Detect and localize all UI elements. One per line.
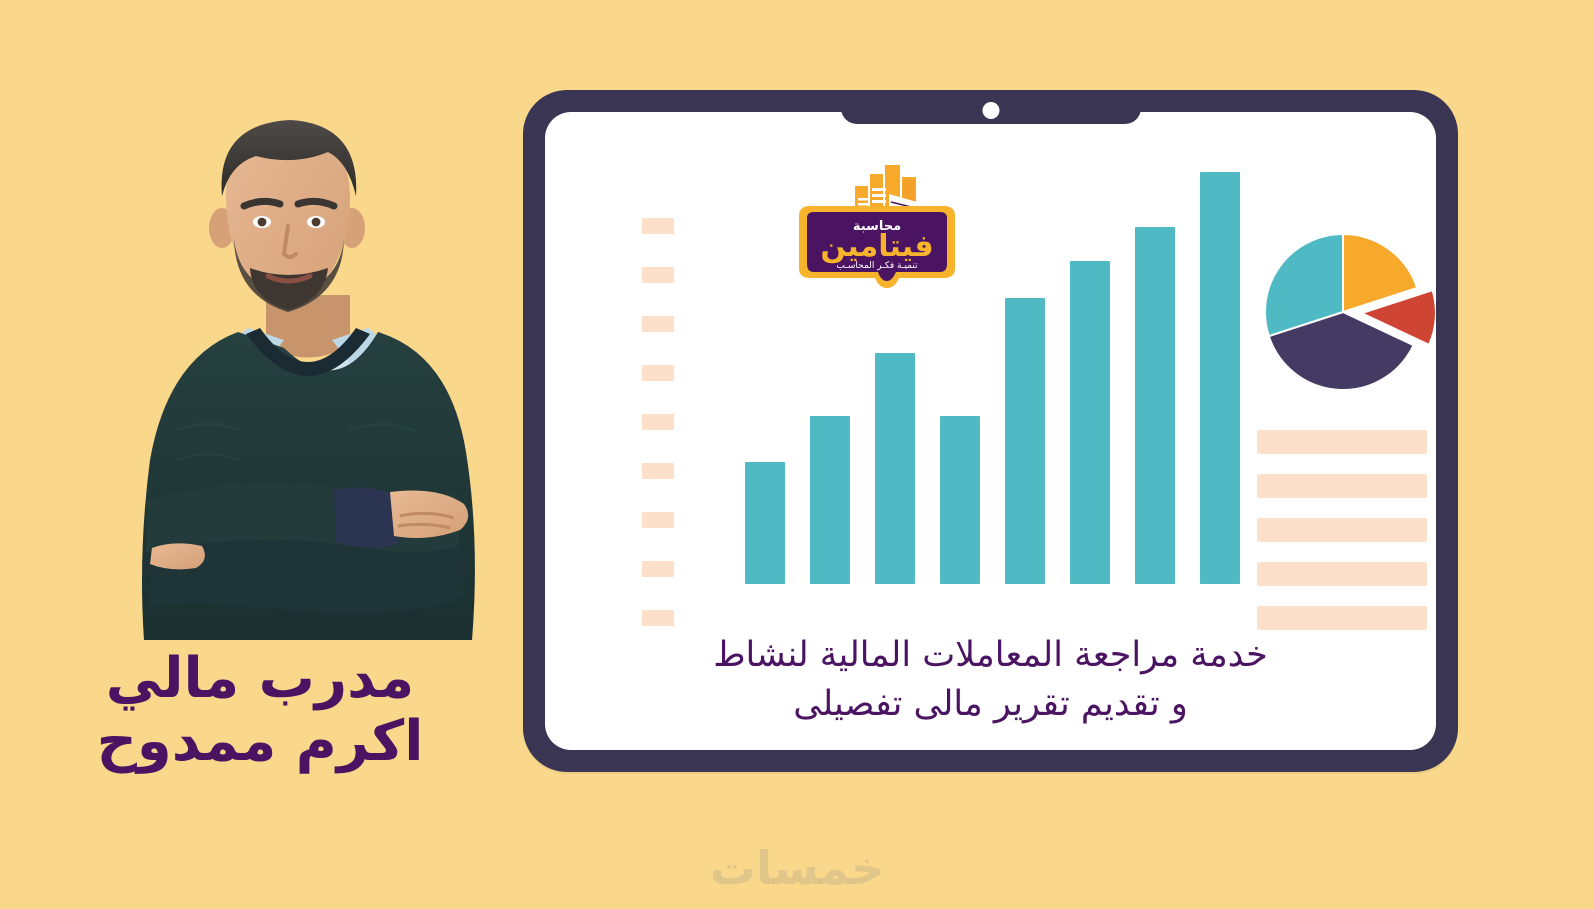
site-watermark: خمسات (0, 841, 1594, 895)
trainer-photo (98, 100, 518, 660)
bar-1 (745, 462, 785, 584)
trainer-name: اكرم ممدوح (40, 711, 480, 774)
y-axis-tick (642, 561, 674, 577)
y-axis-tick (642, 463, 674, 479)
bar-chart (745, 164, 1265, 584)
placeholder-line (1257, 518, 1427, 542)
bar-8 (1200, 172, 1240, 584)
caption-line-1: خدمة مراجعة المعاملات المالية لنشاط (585, 631, 1396, 679)
trainer-headline: مدرب مالي اكرم ممدوح (40, 648, 480, 773)
caption-line-2: و تقديم تقرير مالى تفصيلى (585, 680, 1396, 728)
y-axis-tick (642, 414, 674, 430)
placeholder-lines (1257, 430, 1427, 650)
placeholder-line (1257, 474, 1427, 498)
y-axis-tick (642, 365, 674, 381)
bar-4 (940, 416, 980, 584)
poster-canvas: مدرب مالي اكرم ممدوح (0, 0, 1594, 909)
camera-icon (982, 102, 999, 119)
placeholder-line (1257, 562, 1427, 586)
y-axis-tick (642, 610, 674, 626)
bar-6 (1070, 261, 1110, 584)
placeholder-line (1257, 430, 1427, 454)
pie-slices (1265, 234, 1436, 390)
y-axis-tick (642, 316, 674, 332)
bar-5 (1005, 298, 1045, 584)
placeholder-line (1257, 606, 1427, 630)
tablet-device: محاسبة فيتامين تنميـة فكـر المحاسـب (523, 90, 1458, 772)
y-axis-tick (642, 267, 674, 283)
tablet-screen: محاسبة فيتامين تنميـة فكـر المحاسـب (545, 112, 1436, 750)
y-axis-tick (642, 218, 674, 234)
bar-3 (875, 353, 915, 584)
bar-2 (810, 416, 850, 584)
y-axis-ticks (642, 218, 674, 659)
pie-chart (1255, 222, 1436, 402)
y-axis-tick (642, 512, 674, 528)
trainer-role: مدرب مالي (40, 648, 480, 711)
service-caption: خدمة مراجعة المعاملات المالية لنشاط و تق… (585, 631, 1396, 728)
bar-7 (1135, 227, 1175, 584)
